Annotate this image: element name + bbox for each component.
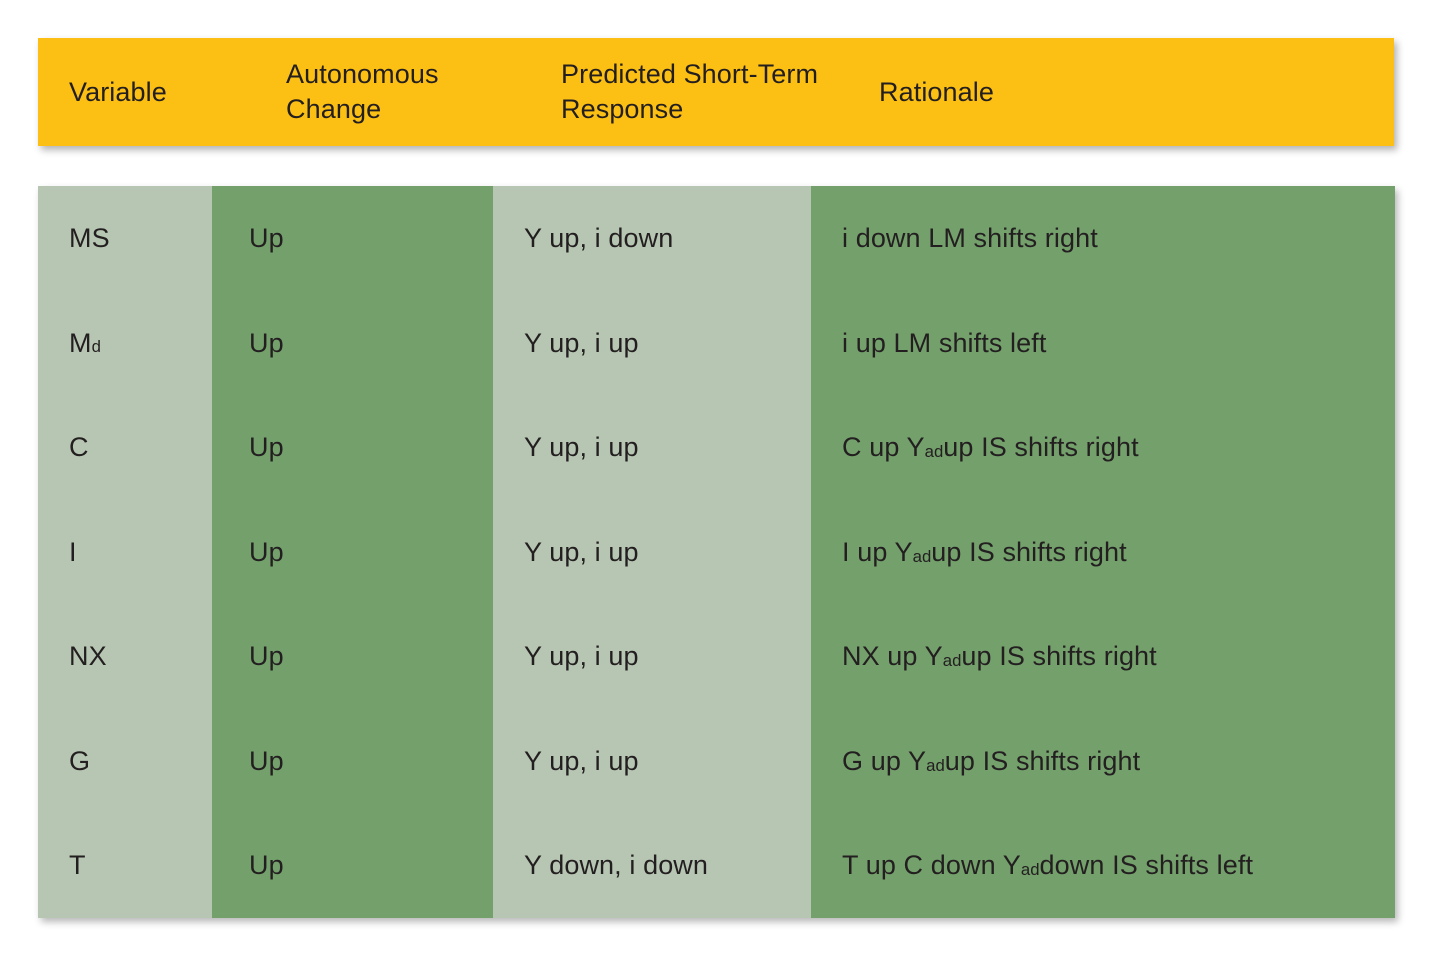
variable-text: MS [69,222,110,254]
rationale-text-post: up IS shifts right [961,640,1156,672]
cell-predicted-response: Y up, i down [524,186,811,291]
rationale-subscript: ad [925,442,944,462]
cell-rationale: i down LM shifts right [842,186,1395,291]
cell-predicted-response: Y up, i up [524,709,811,814]
table-header-band: Variable Autonomous Change Predicted Sho… [38,38,1394,146]
rationale-text-pre: G up Y [842,745,926,777]
column-header-predicted-short-term-response: Predicted Short-Term Response [530,57,848,126]
cell-variable: Md [69,291,212,396]
cell-autonomous-change: Up [249,500,493,605]
column-variable: MSMdCINXGT [38,186,212,918]
cell-rationale: NX up Yad up IS shifts right [842,604,1395,709]
rationale-text-pre: T up C down Y [842,849,1021,881]
variable-text: T [69,849,86,881]
column-autonomous-change: UpUpUpUpUpUpUp [212,186,493,918]
cell-autonomous-change: Up [249,709,493,814]
cell-predicted-response: Y down, i down [524,813,811,918]
cell-variable: MS [69,186,212,291]
cell-variable: G [69,709,212,814]
cell-autonomous-change: Up [249,604,493,709]
cell-predicted-response: Y up, i up [524,604,811,709]
cell-variable: I [69,500,212,605]
rationale-text-post: down IS shifts left [1040,849,1254,881]
rationale-text-pre: C up Y [842,431,925,463]
rationale-text-pre: i down LM shifts right [842,222,1098,254]
rationale-subscript: ad [1021,860,1040,880]
column-rationale: i down LM shifts righti up LM shifts lef… [811,186,1395,918]
cell-variable: T [69,813,212,918]
cell-autonomous-change: Up [249,813,493,918]
rationale-text-pre: i up LM shifts left [842,327,1046,359]
table-body: MSMdCINXGT UpUpUpUpUpUpUp Y up, i downY … [38,186,1395,918]
cell-rationale: G up Yad up IS shifts right [842,709,1395,814]
cell-predicted-response: Y up, i up [524,291,811,396]
rationale-text-pre: NX up Y [842,640,943,672]
variable-subscript: d [92,337,101,357]
column-header-variable: Variable [38,75,250,110]
column-predicted-response: Y up, i downY up, i upY up, i upY up, i … [493,186,811,918]
cell-variable: NX [69,604,212,709]
variable-text: C [69,431,89,463]
cell-predicted-response: Y up, i up [524,500,811,605]
rationale-text-post: up IS shifts right [931,536,1126,568]
cell-variable: C [69,395,212,500]
rationale-subscript: ad [943,651,962,671]
variable-text: NX [69,640,107,672]
variable-text: I [69,536,77,568]
variable-text: M [69,327,92,359]
cell-rationale: I up Yad up IS shifts right [842,500,1395,605]
cell-autonomous-change: Up [249,291,493,396]
rationale-text-post: up IS shifts right [945,745,1140,777]
cell-rationale: i up LM shifts left [842,291,1395,396]
cell-rationale: C up Yad up IS shifts right [842,395,1395,500]
cell-autonomous-change: Up [249,186,493,291]
variable-text: G [69,745,90,777]
column-header-rationale: Rationale [848,75,1394,110]
rationale-subscript: ad [926,756,945,776]
column-header-autonomous-change: Autonomous Change [250,57,530,126]
rationale-subscript: ad [913,547,932,567]
cell-autonomous-change: Up [249,395,493,500]
cell-rationale: T up C down Yad down IS shifts left [842,813,1395,918]
rationale-text-post: up IS shifts right [943,431,1138,463]
cell-predicted-response: Y up, i up [524,395,811,500]
rationale-text-pre: I up Y [842,536,913,568]
